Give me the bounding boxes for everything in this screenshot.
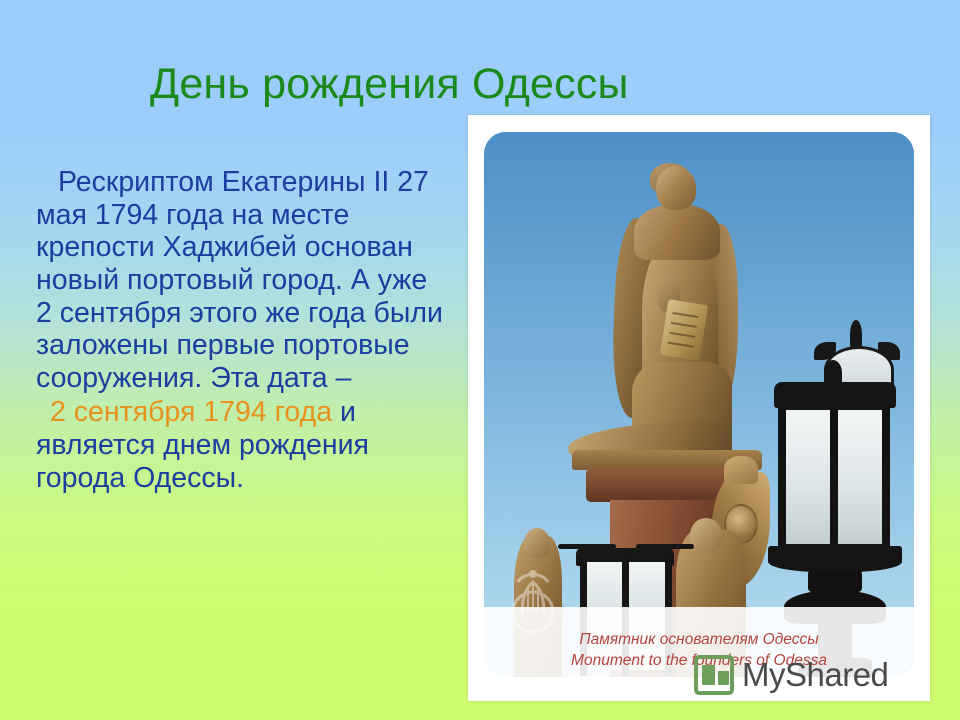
photo-caption-en: Monument to the founders of Odessa: [484, 651, 914, 671]
page-title: День рождения Одессы: [150, 62, 840, 107]
slide-body-text: Рескриптом Екатерины II 27 мая 1794 года…: [36, 166, 450, 494]
highlighted-date: 2 сентября 1794 года: [50, 396, 332, 428]
founder-figure-left-head: [524, 528, 550, 558]
founder-figure-right-head: [690, 518, 722, 552]
body-paragraph-2: 2 сентября 1794 года и является днем рож…: [36, 396, 450, 494]
pedestal-crown-ornament: [724, 456, 758, 484]
statue-head: [655, 165, 698, 212]
photo-caption: Памятник основателям Одессы Monument to …: [484, 630, 914, 671]
statue-shoulders: [634, 204, 720, 260]
photo-caption-ru: Памятник основателям Одессы: [484, 630, 914, 650]
monument-photo: Памятник основателям Одессы Monument to …: [484, 132, 914, 677]
body-paragraph-1: Рескриптом Екатерины II 27 мая 1794 года…: [36, 166, 450, 394]
presentation-slide: День рождения Одессы Рескриптом Екатерин…: [0, 0, 960, 720]
photo-frame: Памятник основателям Одессы Monument to …: [468, 115, 930, 701]
caption-strip: Памятник основателям Одессы Monument to …: [484, 607, 914, 677]
